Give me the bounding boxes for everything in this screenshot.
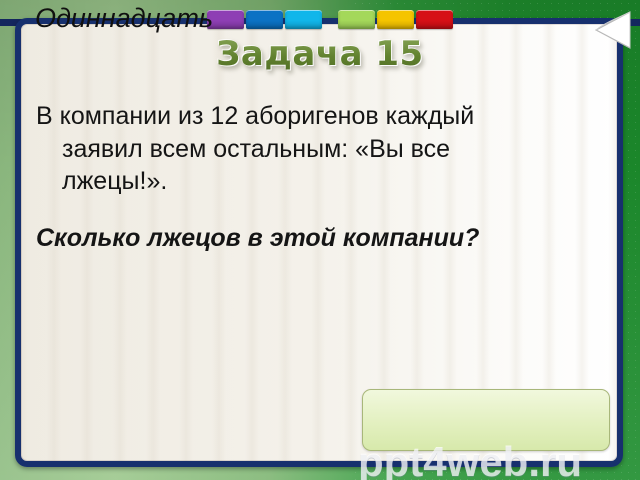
answer-text: Одиннадцать xyxy=(8,3,240,33)
tab-yellow[interactable] xyxy=(377,10,414,29)
slide-canvas: Задача 15 В компании из 12 аборигенов ка… xyxy=(0,0,640,480)
answer-box[interactable] xyxy=(362,389,610,451)
problem-body: В компании из 12 аборигенов каждый заяви… xyxy=(36,100,506,258)
problem-question: Сколько лжецов в этой компании? xyxy=(36,222,506,255)
page-title: Задача 15 xyxy=(0,34,640,74)
problem-statement: В компании из 12 аборигенов каждый заяви… xyxy=(36,100,506,198)
tab-red[interactable] xyxy=(416,10,453,29)
tab-cyan[interactable] xyxy=(285,10,322,29)
color-tab-strip xyxy=(207,10,453,29)
tab-blue[interactable] xyxy=(246,10,283,29)
tab-green[interactable] xyxy=(338,10,375,29)
